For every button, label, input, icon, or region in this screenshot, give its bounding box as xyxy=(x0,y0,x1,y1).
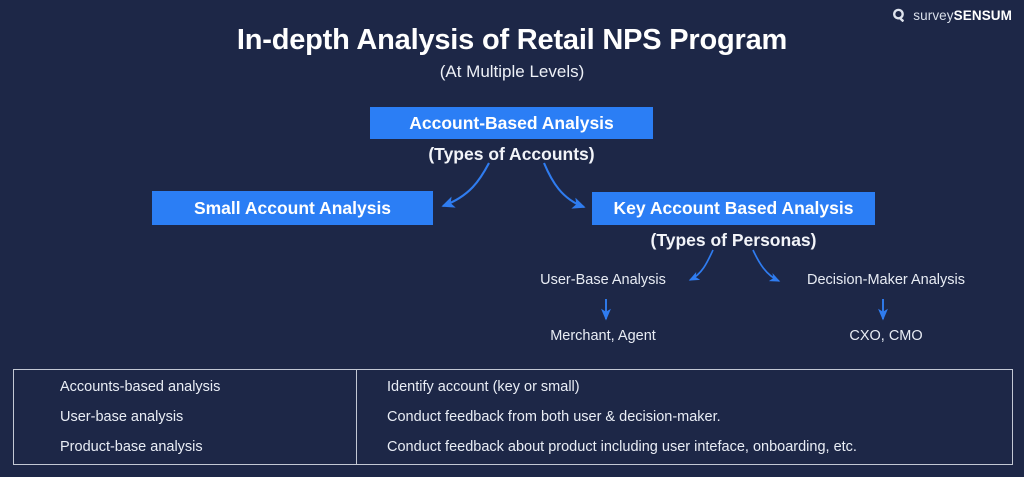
table-row: Accounts-based analysis xyxy=(60,372,356,402)
node-user-base-analysis: User-Base Analysis xyxy=(508,272,698,288)
table-row: Product-base analysis xyxy=(60,432,356,462)
table-row: Conduct feedback from both user & decisi… xyxy=(387,402,1012,432)
magnifier-icon xyxy=(891,7,908,24)
page-subtitle: (At Multiple Levels) xyxy=(0,62,1024,82)
page-title: In-depth Analysis of Retail NPS Program xyxy=(0,24,1024,57)
node-account-based-analysis[interactable]: Account-Based Analysis xyxy=(370,107,653,139)
brand-wordmark: surveySENSUM xyxy=(913,9,1012,23)
node-cxo-cmo: CXO, CMO xyxy=(786,328,986,344)
node-decision-maker-analysis: Decision-Maker Analysis xyxy=(786,272,986,288)
infographic-canvas: surveySENSUM In-depth Analysis of Retail… xyxy=(0,0,1024,477)
summary-table: Accounts-based analysis User-base analys… xyxy=(13,369,1013,465)
brand-logo: surveySENSUM xyxy=(891,7,1012,24)
caption-types-of-personas: (Types of Personas) xyxy=(592,230,875,251)
arrow-account-to-small xyxy=(443,163,489,206)
node-merchant-agent: Merchant, Agent xyxy=(508,328,698,344)
summary-table-column-analysis: Accounts-based analysis User-base analys… xyxy=(14,370,357,464)
node-key-account-based-analysis[interactable]: Key Account Based Analysis xyxy=(592,192,875,225)
table-row: User-base analysis xyxy=(60,402,356,432)
table-row: Conduct feedback about product including… xyxy=(387,432,1012,462)
brand-name-bold: SENSUM xyxy=(954,8,1012,23)
summary-table-column-action: Identify account (key or small) Conduct … xyxy=(357,370,1012,464)
arrow-account-to-key xyxy=(544,163,584,207)
caption-types-of-accounts: (Types of Accounts) xyxy=(370,144,653,165)
arrow-key-to-decisionmaker xyxy=(753,250,779,281)
brand-name-light: survey xyxy=(913,8,953,23)
node-small-account-analysis[interactable]: Small Account Analysis xyxy=(152,191,433,225)
table-row: Identify account (key or small) xyxy=(387,372,1012,402)
